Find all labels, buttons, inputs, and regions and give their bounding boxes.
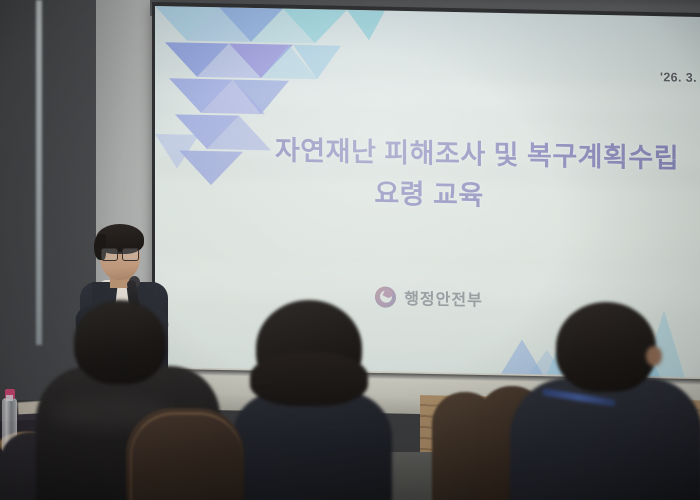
slide-date-label: '26. 3. (660, 70, 697, 85)
chair (126, 408, 244, 500)
audience-torso (232, 392, 392, 500)
eyeglasses-icon (101, 248, 139, 259)
eyeglass-lens-left (101, 248, 118, 261)
audience-head (74, 300, 166, 384)
audience-ear (646, 346, 662, 366)
wall-light-strip (36, 0, 42, 345)
bottle-neck (6, 395, 13, 401)
chair-rim (130, 412, 242, 500)
organization-name: 행정안전부 (404, 285, 483, 311)
eyeglass-lens-right (122, 248, 139, 261)
audience-member-center (232, 300, 392, 500)
audience-member-right (520, 302, 700, 500)
audience-torso (510, 378, 700, 500)
presentation-photo-scene: '26. 3. 자연재난 피해조사 및 복구계획수립 요령 교육 행정안전부 (0, 0, 700, 500)
slide-title: 자연재난 피해조사 및 복구계획수립 요령 교육 (155, 128, 700, 221)
eyeglass-bridge (117, 252, 123, 254)
audience-hair (250, 352, 368, 406)
audience-head (556, 302, 656, 392)
